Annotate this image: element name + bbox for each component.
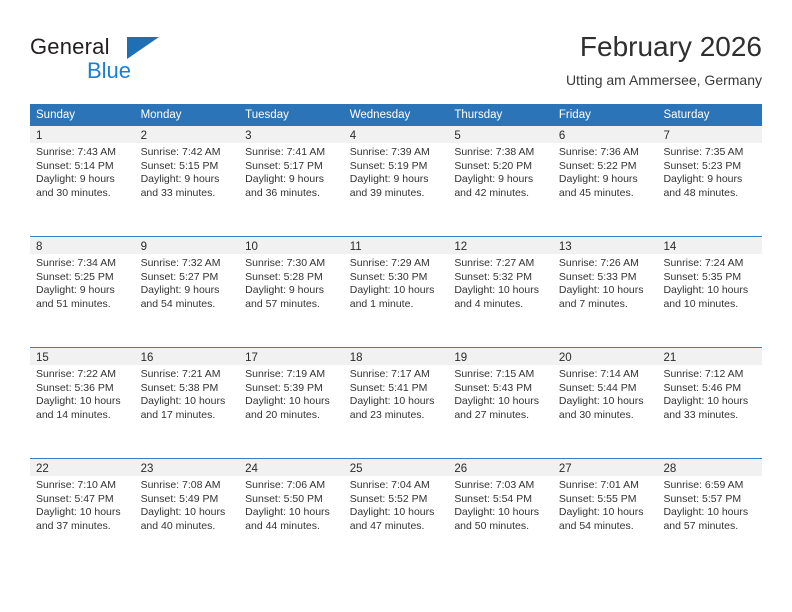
sunset-text: Sunset: 5:17 PM (245, 160, 338, 174)
day-number-band: 6 (553, 126, 658, 143)
day-details: Sunrise: 7:19 AM Sunset: 5:39 PM Dayligh… (239, 365, 344, 422)
day-number: 28 (663, 463, 676, 475)
day-number-band: 19 (448, 348, 553, 365)
daylight-text-line2: and 44 minutes. (245, 520, 338, 534)
day-number-band: 8 (30, 237, 135, 254)
day-cell[interactable]: 28 Sunrise: 6:59 AM Sunset: 5:57 PM Dayl… (657, 459, 762, 569)
day-number-band: 4 (344, 126, 449, 143)
day-number: 15 (36, 352, 49, 364)
day-cell[interactable]: 23 Sunrise: 7:08 AM Sunset: 5:49 PM Dayl… (135, 459, 240, 569)
daylight-text-line2: and 36 minutes. (245, 187, 338, 201)
daylight-text-line1: Daylight: 10 hours (559, 284, 652, 298)
day-details: Sunrise: 7:04 AM Sunset: 5:52 PM Dayligh… (344, 476, 449, 533)
daylight-text-line1: Daylight: 9 hours (245, 284, 338, 298)
day-details: Sunrise: 7:12 AM Sunset: 5:46 PM Dayligh… (657, 365, 762, 422)
day-details: Sunrise: 7:41 AM Sunset: 5:17 PM Dayligh… (239, 143, 344, 200)
day-number: 4 (350, 130, 356, 142)
day-number-band: 13 (553, 237, 658, 254)
day-number-band: 27 (553, 459, 658, 476)
day-number-band: 11 (344, 237, 449, 254)
day-cell[interactable]: 6 Sunrise: 7:36 AM Sunset: 5:22 PM Dayli… (553, 126, 658, 236)
sunset-text: Sunset: 5:50 PM (245, 493, 338, 507)
day-cell[interactable]: 24 Sunrise: 7:06 AM Sunset: 5:50 PM Dayl… (239, 459, 344, 569)
day-number-band: 18 (344, 348, 449, 365)
sunset-text: Sunset: 5:33 PM (559, 271, 652, 285)
day-number-band: 2 (135, 126, 240, 143)
daylight-text-line1: Daylight: 9 hours (36, 284, 129, 298)
sunrise-text: Sunrise: 7:15 AM (454, 368, 547, 382)
sunrise-text: Sunrise: 7:01 AM (559, 479, 652, 493)
daylight-text-line2: and 57 minutes. (245, 298, 338, 312)
day-cell[interactable]: 4 Sunrise: 7:39 AM Sunset: 5:19 PM Dayli… (344, 126, 449, 236)
sunset-text: Sunset: 5:39 PM (245, 382, 338, 396)
daylight-text-line1: Daylight: 9 hours (454, 173, 547, 187)
day-number: 1 (36, 130, 42, 142)
day-cell[interactable]: 16 Sunrise: 7:21 AM Sunset: 5:38 PM Dayl… (135, 348, 240, 458)
daylight-text-line1: Daylight: 10 hours (350, 284, 443, 298)
day-cell[interactable]: 3 Sunrise: 7:41 AM Sunset: 5:17 PM Dayli… (239, 126, 344, 236)
sunrise-text: Sunrise: 7:04 AM (350, 479, 443, 493)
sunrise-text: Sunrise: 7:38 AM (454, 146, 547, 160)
day-cell[interactable]: 7 Sunrise: 7:35 AM Sunset: 5:23 PM Dayli… (657, 126, 762, 236)
day-details: Sunrise: 6:59 AM Sunset: 5:57 PM Dayligh… (657, 476, 762, 533)
sunset-text: Sunset: 5:36 PM (36, 382, 129, 396)
day-number: 11 (350, 241, 362, 253)
day-details: Sunrise: 7:39 AM Sunset: 5:19 PM Dayligh… (344, 143, 449, 200)
day-cell[interactable]: 10 Sunrise: 7:30 AM Sunset: 5:28 PM Dayl… (239, 237, 344, 347)
daylight-text-line1: Daylight: 9 hours (245, 173, 338, 187)
daylight-text-line2: and 30 minutes. (559, 409, 652, 423)
daylight-text-line2: and 45 minutes. (559, 187, 652, 201)
day-number: 20 (559, 352, 572, 364)
sunrise-text: Sunrise: 7:24 AM (663, 257, 756, 271)
sunset-text: Sunset: 5:44 PM (559, 382, 652, 396)
sunrise-text: Sunrise: 7:41 AM (245, 146, 338, 160)
sunset-text: Sunset: 5:25 PM (36, 271, 129, 285)
daylight-text-line2: and 33 minutes. (141, 187, 234, 201)
day-cell[interactable]: 19 Sunrise: 7:15 AM Sunset: 5:43 PM Dayl… (448, 348, 553, 458)
daylight-text-line2: and 30 minutes. (36, 187, 129, 201)
day-cell[interactable]: 20 Sunrise: 7:14 AM Sunset: 5:44 PM Dayl… (553, 348, 658, 458)
day-number: 6 (559, 130, 565, 142)
sunset-text: Sunset: 5:15 PM (141, 160, 234, 174)
sunset-text: Sunset: 5:41 PM (350, 382, 443, 396)
day-cell[interactable]: 21 Sunrise: 7:12 AM Sunset: 5:46 PM Dayl… (657, 348, 762, 458)
day-number-band: 14 (657, 237, 762, 254)
sunset-text: Sunset: 5:55 PM (559, 493, 652, 507)
daylight-text-line2: and 39 minutes. (350, 187, 443, 201)
sunset-text: Sunset: 5:19 PM (350, 160, 443, 174)
daylight-text-line1: Daylight: 10 hours (141, 395, 234, 409)
sunrise-text: Sunrise: 7:36 AM (559, 146, 652, 160)
day-number-band: 24 (239, 459, 344, 476)
sunrise-text: Sunrise: 7:30 AM (245, 257, 338, 271)
daylight-text-line1: Daylight: 10 hours (663, 284, 756, 298)
sunrise-text: Sunrise: 7:42 AM (141, 146, 234, 160)
day-cell[interactable]: 25 Sunrise: 7:04 AM Sunset: 5:52 PM Dayl… (344, 459, 449, 569)
day-number: 18 (350, 352, 363, 364)
day-details: Sunrise: 7:29 AM Sunset: 5:30 PM Dayligh… (344, 254, 449, 311)
weekday-header-sunday: Sunday (30, 104, 135, 126)
sunrise-text: Sunrise: 7:35 AM (663, 146, 756, 160)
sunset-text: Sunset: 5:14 PM (36, 160, 129, 174)
sunset-text: Sunset: 5:27 PM (141, 271, 234, 285)
day-cell[interactable]: 8 Sunrise: 7:34 AM Sunset: 5:25 PM Dayli… (30, 237, 135, 347)
triangle-icon (127, 37, 159, 59)
sunrise-text: Sunrise: 7:03 AM (454, 479, 547, 493)
daylight-text-line1: Daylight: 9 hours (559, 173, 652, 187)
daylight-text-line2: and 51 minutes. (36, 298, 129, 312)
sunset-text: Sunset: 5:23 PM (663, 160, 756, 174)
daylight-text-line1: Daylight: 9 hours (36, 173, 129, 187)
calendar-week-row: 15 Sunrise: 7:22 AM Sunset: 5:36 PM Dayl… (30, 348, 762, 459)
day-number: 26 (454, 463, 467, 475)
sunset-text: Sunset: 5:38 PM (141, 382, 234, 396)
day-cell[interactable]: 2 Sunrise: 7:42 AM Sunset: 5:15 PM Dayli… (135, 126, 240, 236)
day-cell[interactable]: 13 Sunrise: 7:26 AM Sunset: 5:33 PM Dayl… (553, 237, 658, 347)
daylight-text-line2: and 37 minutes. (36, 520, 129, 534)
day-number-band: 10 (239, 237, 344, 254)
day-number-band: 26 (448, 459, 553, 476)
day-details: Sunrise: 7:06 AM Sunset: 5:50 PM Dayligh… (239, 476, 344, 533)
day-number-band: 23 (135, 459, 240, 476)
daylight-text-line2: and 7 minutes. (559, 298, 652, 312)
calendar-page: General Blue February 2026 Utting am Amm… (0, 0, 792, 612)
day-number: 10 (245, 241, 258, 253)
sunset-text: Sunset: 5:54 PM (454, 493, 547, 507)
page-title: February 2026 (566, 30, 762, 64)
day-number-band: 1 (30, 126, 135, 143)
sunrise-text: Sunrise: 7:27 AM (454, 257, 547, 271)
day-details: Sunrise: 7:35 AM Sunset: 5:23 PM Dayligh… (657, 143, 762, 200)
location-subtitle: Utting am Ammersee, Germany (566, 70, 762, 90)
daylight-text-line1: Daylight: 10 hours (663, 395, 756, 409)
day-number: 8 (36, 241, 42, 253)
calendar-grid: Sunday Monday Tuesday Wednesday Thursday… (30, 104, 762, 569)
day-cell[interactable]: 22 Sunrise: 7:10 AM Sunset: 5:47 PM Dayl… (30, 459, 135, 569)
daylight-text-line2: and 17 minutes. (141, 409, 234, 423)
calendar-week-row: 1 Sunrise: 7:43 AM Sunset: 5:14 PM Dayli… (30, 126, 762, 237)
daylight-text-line2: and 48 minutes. (663, 187, 756, 201)
day-details: Sunrise: 7:24 AM Sunset: 5:35 PM Dayligh… (657, 254, 762, 311)
calendar-week-row: 22 Sunrise: 7:10 AM Sunset: 5:47 PM Dayl… (30, 459, 762, 569)
daylight-text-line2: and 27 minutes. (454, 409, 547, 423)
daylight-text-line1: Daylight: 9 hours (350, 173, 443, 187)
day-cell[interactable]: 18 Sunrise: 7:17 AM Sunset: 5:41 PM Dayl… (344, 348, 449, 458)
day-number: 23 (141, 463, 154, 475)
daylight-text-line2: and 14 minutes. (36, 409, 129, 423)
daylight-text-line1: Daylight: 10 hours (663, 506, 756, 520)
day-details: Sunrise: 7:15 AM Sunset: 5:43 PM Dayligh… (448, 365, 553, 422)
day-cell[interactable]: 9 Sunrise: 7:32 AM Sunset: 5:27 PM Dayli… (135, 237, 240, 347)
day-details: Sunrise: 7:10 AM Sunset: 5:47 PM Dayligh… (30, 476, 135, 533)
day-number: 17 (245, 352, 258, 364)
daylight-text-line1: Daylight: 10 hours (454, 395, 547, 409)
day-number-band: 16 (135, 348, 240, 365)
sunset-text: Sunset: 5:46 PM (663, 382, 756, 396)
daylight-text-line2: and 47 minutes. (350, 520, 443, 534)
day-details: Sunrise: 7:01 AM Sunset: 5:55 PM Dayligh… (553, 476, 658, 533)
day-cell[interactable]: 1 Sunrise: 7:43 AM Sunset: 5:14 PM Dayli… (30, 126, 135, 236)
brand-name-blue: Blue (87, 58, 131, 84)
weekday-header-monday: Monday (135, 104, 240, 126)
day-details: Sunrise: 7:27 AM Sunset: 5:32 PM Dayligh… (448, 254, 553, 311)
day-cell[interactable]: 26 Sunrise: 7:03 AM Sunset: 5:54 PM Dayl… (448, 459, 553, 569)
weekday-header-thursday: Thursday (448, 104, 553, 126)
daylight-text-line1: Daylight: 9 hours (141, 284, 234, 298)
daylight-text-line2: and 1 minute. (350, 298, 443, 312)
sunset-text: Sunset: 5:32 PM (454, 271, 547, 285)
day-details: Sunrise: 7:26 AM Sunset: 5:33 PM Dayligh… (553, 254, 658, 311)
daylight-text-line1: Daylight: 10 hours (559, 506, 652, 520)
daylight-text-line2: and 50 minutes. (454, 520, 547, 534)
day-number: 21 (663, 352, 676, 364)
sunrise-text: Sunrise: 7:21 AM (141, 368, 234, 382)
daylight-text-line2: and 4 minutes. (454, 298, 547, 312)
sunrise-text: Sunrise: 7:22 AM (36, 368, 129, 382)
day-details: Sunrise: 7:21 AM Sunset: 5:38 PM Dayligh… (135, 365, 240, 422)
day-number-band: 17 (239, 348, 344, 365)
sunrise-text: Sunrise: 7:39 AM (350, 146, 443, 160)
sunrise-text: Sunrise: 7:26 AM (559, 257, 652, 271)
daylight-text-line1: Daylight: 9 hours (141, 173, 234, 187)
sunrise-text: Sunrise: 7:08 AM (141, 479, 234, 493)
sunrise-text: Sunrise: 7:10 AM (36, 479, 129, 493)
day-cell[interactable]: 27 Sunrise: 7:01 AM Sunset: 5:55 PM Dayl… (553, 459, 658, 569)
day-number: 9 (141, 241, 147, 253)
day-number: 3 (245, 130, 251, 142)
daylight-text-line1: Daylight: 10 hours (36, 395, 129, 409)
day-details: Sunrise: 7:38 AM Sunset: 5:20 PM Dayligh… (448, 143, 553, 200)
day-number-band: 22 (30, 459, 135, 476)
day-number-band: 20 (553, 348, 658, 365)
day-details: Sunrise: 7:43 AM Sunset: 5:14 PM Dayligh… (30, 143, 135, 200)
title-block: February 2026 Utting am Ammersee, German… (566, 30, 762, 90)
brand-logo[interactable]: General Blue (30, 34, 270, 92)
day-number: 16 (141, 352, 154, 364)
daylight-text-line2: and 33 minutes. (663, 409, 756, 423)
day-details: Sunrise: 7:14 AM Sunset: 5:44 PM Dayligh… (553, 365, 658, 422)
sunset-text: Sunset: 5:57 PM (663, 493, 756, 507)
day-number-band: 25 (344, 459, 449, 476)
daylight-text-line1: Daylight: 10 hours (350, 506, 443, 520)
sunrise-text: Sunrise: 7:17 AM (350, 368, 443, 382)
day-number: 24 (245, 463, 258, 475)
day-details: Sunrise: 7:34 AM Sunset: 5:25 PM Dayligh… (30, 254, 135, 311)
day-number: 5 (454, 130, 460, 142)
day-cell[interactable]: 12 Sunrise: 7:27 AM Sunset: 5:32 PM Dayl… (448, 237, 553, 347)
day-cell[interactable]: 11 Sunrise: 7:29 AM Sunset: 5:30 PM Dayl… (344, 237, 449, 347)
sunrise-text: Sunrise: 7:34 AM (36, 257, 129, 271)
day-number-band: 15 (30, 348, 135, 365)
day-number-band: 5 (448, 126, 553, 143)
sunset-text: Sunset: 5:49 PM (141, 493, 234, 507)
day-number: 2 (141, 130, 147, 142)
day-details: Sunrise: 7:17 AM Sunset: 5:41 PM Dayligh… (344, 365, 449, 422)
day-cell[interactable]: 14 Sunrise: 7:24 AM Sunset: 5:35 PM Dayl… (657, 237, 762, 347)
sunset-text: Sunset: 5:28 PM (245, 271, 338, 285)
day-details: Sunrise: 7:36 AM Sunset: 5:22 PM Dayligh… (553, 143, 658, 200)
day-details: Sunrise: 7:22 AM Sunset: 5:36 PM Dayligh… (30, 365, 135, 422)
daylight-text-line1: Daylight: 10 hours (141, 506, 234, 520)
weekday-header-friday: Friday (553, 104, 658, 126)
daylight-text-line1: Daylight: 9 hours (663, 173, 756, 187)
daylight-text-line2: and 20 minutes. (245, 409, 338, 423)
day-cell[interactable]: 5 Sunrise: 7:38 AM Sunset: 5:20 PM Dayli… (448, 126, 553, 236)
daylight-text-line1: Daylight: 10 hours (350, 395, 443, 409)
sunset-text: Sunset: 5:30 PM (350, 271, 443, 285)
day-number-band: 21 (657, 348, 762, 365)
sunrise-text: Sunrise: 7:43 AM (36, 146, 129, 160)
day-number: 19 (454, 352, 467, 364)
sunset-text: Sunset: 5:52 PM (350, 493, 443, 507)
daylight-text-line2: and 40 minutes. (141, 520, 234, 534)
sunrise-text: Sunrise: 7:14 AM (559, 368, 652, 382)
day-details: Sunrise: 7:42 AM Sunset: 5:15 PM Dayligh… (135, 143, 240, 200)
daylight-text-line2: and 54 minutes. (141, 298, 234, 312)
daylight-text-line1: Daylight: 10 hours (245, 395, 338, 409)
sunrise-text: Sunrise: 7:32 AM (141, 257, 234, 271)
day-number-band: 3 (239, 126, 344, 143)
weekday-header-wednesday: Wednesday (344, 104, 449, 126)
daylight-text-line2: and 57 minutes. (663, 520, 756, 534)
page-header: General Blue February 2026 Utting am Amm… (30, 30, 762, 92)
day-number-band: 28 (657, 459, 762, 476)
sunset-text: Sunset: 5:20 PM (454, 160, 547, 174)
weekday-header-row: Sunday Monday Tuesday Wednesday Thursday… (30, 104, 762, 126)
day-number: 7 (663, 130, 669, 142)
daylight-text-line2: and 23 minutes. (350, 409, 443, 423)
day-number-band: 9 (135, 237, 240, 254)
day-cell[interactable]: 17 Sunrise: 7:19 AM Sunset: 5:39 PM Dayl… (239, 348, 344, 458)
day-number-band: 7 (657, 126, 762, 143)
day-number-band: 12 (448, 237, 553, 254)
daylight-text-line1: Daylight: 10 hours (454, 284, 547, 298)
day-number: 25 (350, 463, 363, 475)
day-number: 12 (454, 241, 467, 253)
day-details: Sunrise: 7:03 AM Sunset: 5:54 PM Dayligh… (448, 476, 553, 533)
daylight-text-line1: Daylight: 10 hours (245, 506, 338, 520)
daylight-text-line1: Daylight: 10 hours (559, 395, 652, 409)
day-number: 13 (559, 241, 572, 253)
day-number: 14 (663, 241, 676, 253)
day-cell[interactable]: 15 Sunrise: 7:22 AM Sunset: 5:36 PM Dayl… (30, 348, 135, 458)
day-details: Sunrise: 7:32 AM Sunset: 5:27 PM Dayligh… (135, 254, 240, 311)
sunset-text: Sunset: 5:22 PM (559, 160, 652, 174)
daylight-text-line2: and 54 minutes. (559, 520, 652, 534)
sunrise-text: Sunrise: 6:59 AM (663, 479, 756, 493)
weekday-header-saturday: Saturday (657, 104, 762, 126)
sunrise-text: Sunrise: 7:06 AM (245, 479, 338, 493)
daylight-text-line1: Daylight: 10 hours (454, 506, 547, 520)
daylight-text-line1: Daylight: 10 hours (36, 506, 129, 520)
calendar-week-row: 8 Sunrise: 7:34 AM Sunset: 5:25 PM Dayli… (30, 237, 762, 348)
day-number: 27 (559, 463, 572, 475)
daylight-text-line2: and 10 minutes. (663, 298, 756, 312)
daylight-text-line2: and 42 minutes. (454, 187, 547, 201)
weekday-header-tuesday: Tuesday (239, 104, 344, 126)
sunset-text: Sunset: 5:35 PM (663, 271, 756, 285)
sunrise-text: Sunrise: 7:12 AM (663, 368, 756, 382)
sunset-text: Sunset: 5:43 PM (454, 382, 547, 396)
brand-name-general: General (30, 34, 110, 60)
day-number: 22 (36, 463, 49, 475)
sunset-text: Sunset: 5:47 PM (36, 493, 129, 507)
sunrise-text: Sunrise: 7:29 AM (350, 257, 443, 271)
sunrise-text: Sunrise: 7:19 AM (245, 368, 338, 382)
day-details: Sunrise: 7:30 AM Sunset: 5:28 PM Dayligh… (239, 254, 344, 311)
day-details: Sunrise: 7:08 AM Sunset: 5:49 PM Dayligh… (135, 476, 240, 533)
